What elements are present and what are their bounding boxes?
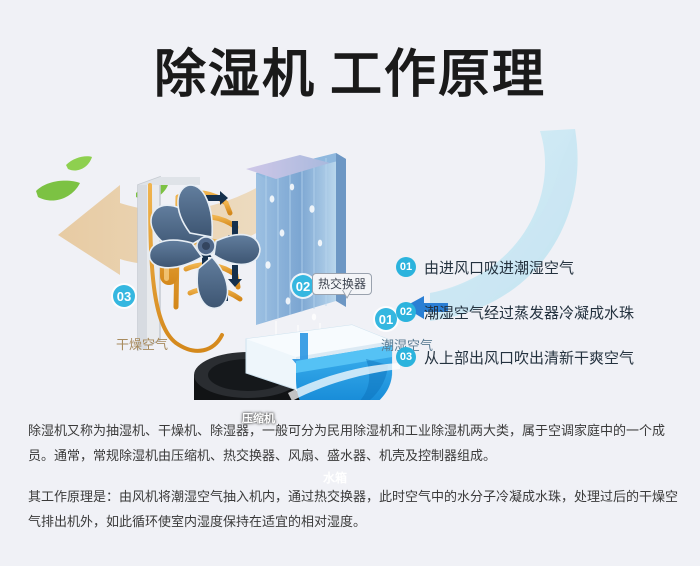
legend-text-03: 从上部出风口吹出清新干爽空气 [424, 347, 634, 368]
legend-badge-02: 02 [396, 302, 416, 322]
body-paragraph-1: 除湿机又称为抽湿机、干燥机、除湿器，一般可分为民用除湿机和工业除湿机两大类，属于… [28, 418, 678, 468]
page-title-part2: 工作原理 [330, 46, 546, 104]
diagram-badge-01: 01 [375, 308, 397, 330]
infographic-page: 除湿机工作原理 [0, 0, 700, 566]
evaporator-block [256, 153, 346, 345]
page-title: 除湿机工作原理 [0, 32, 700, 107]
legend-text-02: 潮湿空气经过蒸发器冷凝成水珠 [424, 302, 634, 323]
legend-item-02: 02 潮湿空气经过蒸发器冷凝成水珠 [396, 301, 634, 323]
legend-text-01: 由进风口吸进潮湿空气 [424, 257, 574, 278]
legend-badge-01: 01 [396, 257, 416, 277]
diagram-badge-02: 02 [292, 275, 314, 297]
legend-item-03: 03 从上部出风口吹出清新干爽空气 [396, 346, 634, 368]
page-title-part1: 除湿机 [154, 46, 316, 104]
legend-list: 01 由进风口吸进潮湿空气 02 潮湿空气经过蒸发器冷凝成水珠 03 从上部出风… [396, 256, 634, 391]
body-paragraph-2: 其工作原理是：由风机将潮湿空气抽入机内，通过热交换器，此时空气中的水分子冷凝成水… [28, 484, 678, 534]
body-copy: 除湿机又称为抽湿机、干燥机、除湿器，一般可分为民用除湿机和工业除湿机两大类，属于… [28, 418, 678, 534]
label-dry-air: 干燥空气 [116, 334, 168, 353]
diagram-badge-03: 03 [113, 285, 135, 307]
legend-badge-03: 03 [396, 347, 416, 367]
callout-tail [342, 290, 352, 299]
legend-item-01: 01 由进风口吸进潮湿空气 [396, 256, 634, 278]
